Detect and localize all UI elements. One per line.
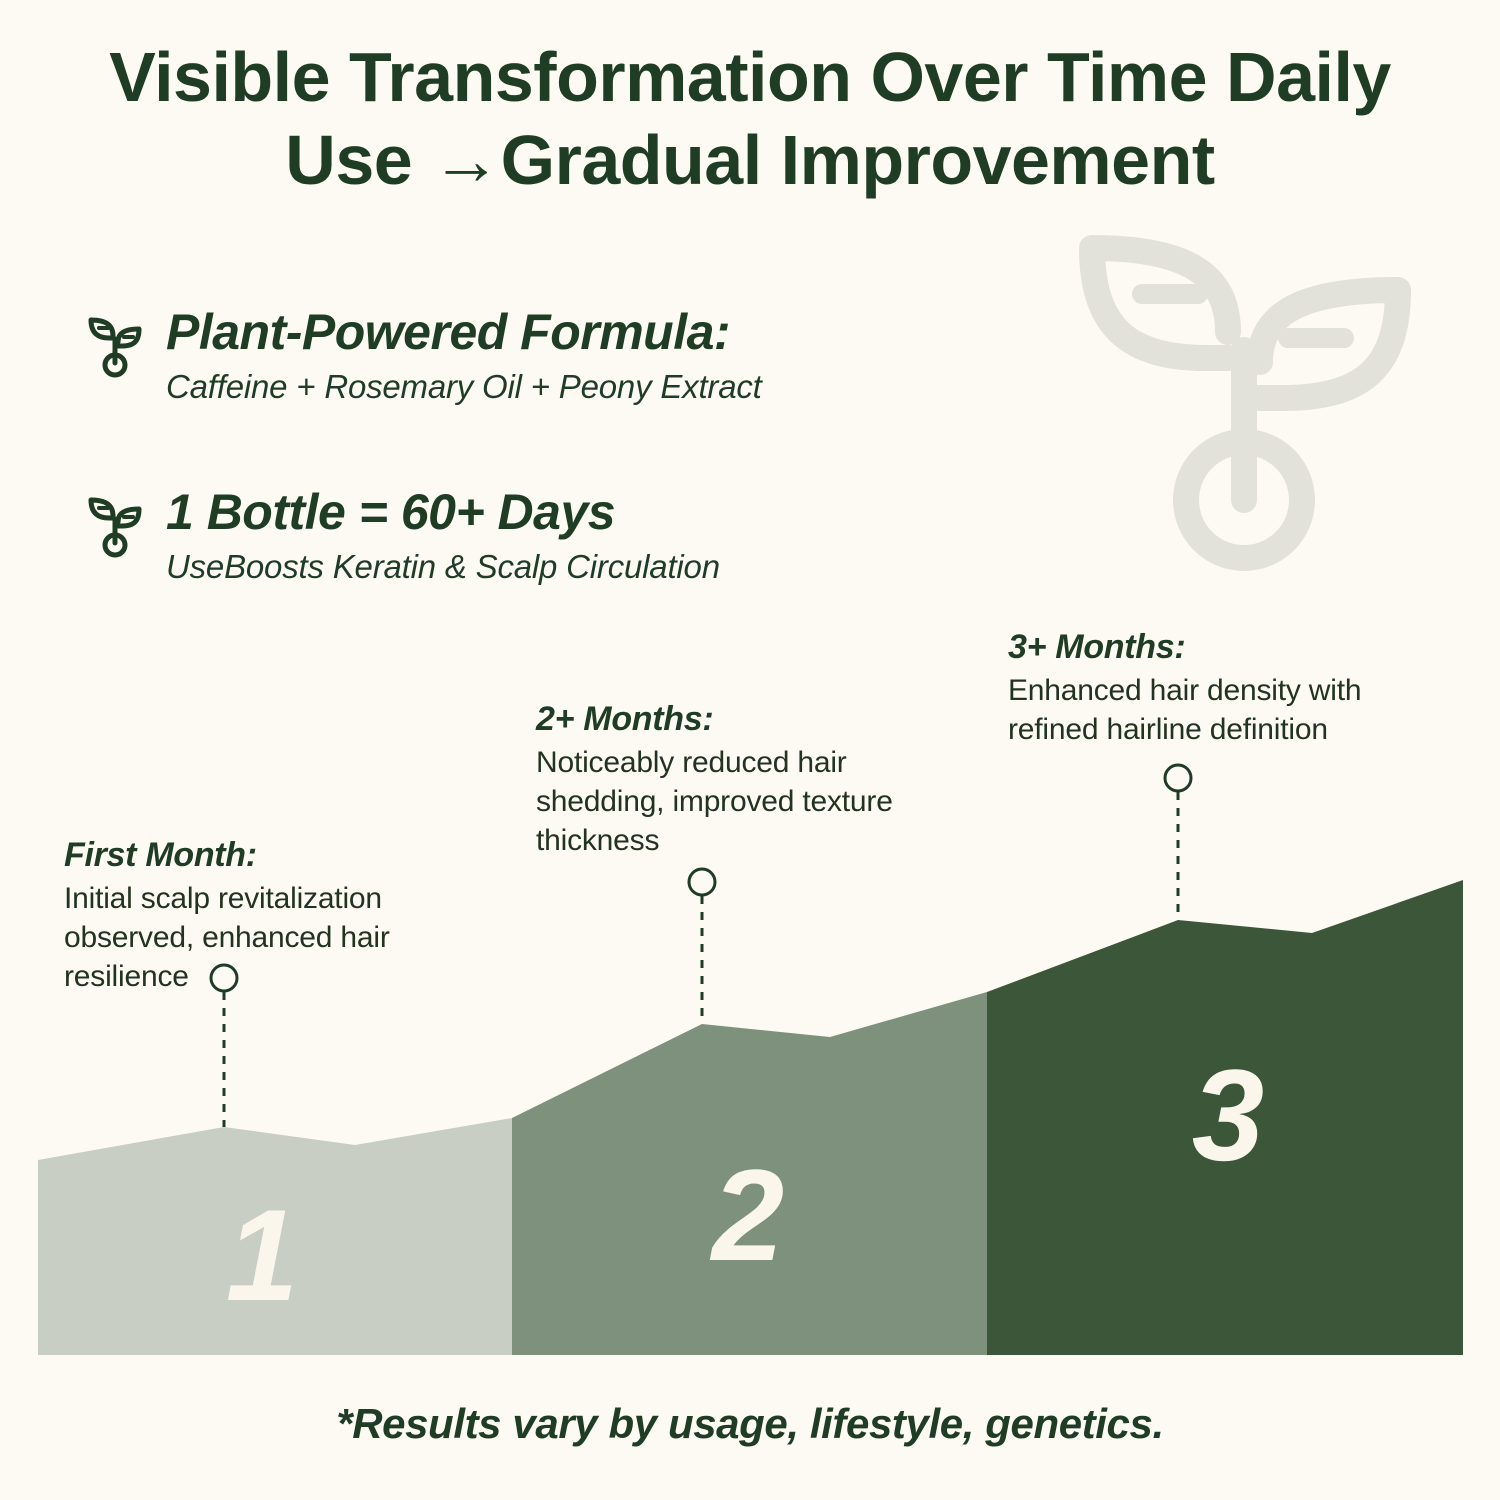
page-title: Visible Transformation Over Time Daily U… — [0, 36, 1500, 201]
chart-connector-dot-2 — [689, 869, 715, 895]
title-line-2: Use →Gradual Improvement — [285, 121, 1214, 199]
annotation-title: First Month: — [64, 836, 484, 875]
annotation-title: 3+ Months: — [1008, 628, 1438, 667]
watermark-sprout-icon — [1068, 232, 1420, 572]
annotation-first-month: First Month: Initial scalp revitalizatio… — [64, 836, 484, 996]
annotation-three-plus-months: 3+ Months: Enhanced hair density with re… — [1008, 628, 1438, 749]
feature-subtitle: Caffeine + Rosemary Oil + Peony Extract — [166, 366, 1008, 407]
feature-item-bottle-days: 1 Bottle = 60+ Days UseBoosts Keratin & … — [88, 485, 1008, 587]
feature-title: Plant-Powered Formula: — [166, 305, 1008, 360]
annotation-two-plus-months: 2+ Months: Noticeably reduced hair shedd… — [536, 700, 966, 860]
chart-step-1-numeral: 1 — [226, 1182, 298, 1328]
feature-title: 1 Bottle = 60+ Days — [166, 485, 1008, 540]
chart-step-3-numeral: 3 — [1192, 1042, 1264, 1188]
sprout-icon — [88, 497, 142, 559]
feature-subtitle: UseBoosts Keratin & Scalp Circulation — [166, 546, 1008, 587]
infographic-page: Visible Transformation Over Time Daily U… — [0, 0, 1500, 1500]
annotation-title: 2+ Months: — [536, 700, 966, 739]
chart-connector-dot-3 — [1165, 765, 1191, 791]
sprout-icon — [88, 317, 142, 379]
title-line-1: Visible Transformation Over Time Daily — [109, 38, 1391, 116]
annotation-body: Initial scalp revitalization observed, e… — [64, 879, 484, 996]
feature-item-plant-powered: Plant-Powered Formula: Caffeine + Rosema… — [88, 305, 1008, 407]
disclaimer-text: *Results vary by usage, lifestyle, genet… — [0, 1400, 1500, 1448]
annotation-body: Noticeably reduced hair shedding, improv… — [536, 743, 966, 860]
feature-list: Plant-Powered Formula: Caffeine + Rosema… — [88, 305, 1008, 588]
annotation-body: Enhanced hair density with refined hairl… — [1008, 671, 1438, 749]
chart-step-2-numeral: 2 — [709, 1142, 784, 1288]
